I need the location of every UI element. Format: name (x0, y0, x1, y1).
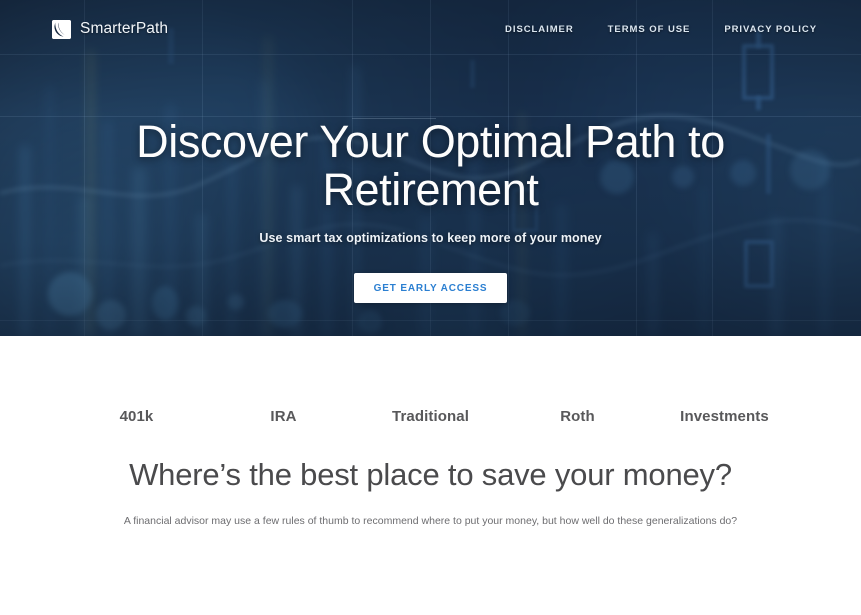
nav-link-privacy-policy[interactable]: PRIVACY POLICY (724, 24, 817, 35)
nav-link-disclaimer[interactable]: DISCLAIMER (505, 24, 574, 35)
brand-logo[interactable]: SmarterPath (52, 20, 168, 39)
top-navigation-bar: SmarterPath DISCLAIMER TERMS OF USE PRIV… (0, 0, 861, 58)
nav-links: DISCLAIMER TERMS OF USE PRIVACY POLICY (505, 24, 817, 35)
category-401k[interactable]: 401k (63, 408, 210, 425)
category-roth[interactable]: Roth (504, 408, 651, 425)
category-traditional[interactable]: Traditional (357, 408, 504, 425)
hero-subheadline: Use smart tax optimizations to keep more… (24, 231, 837, 245)
landing-page: SmarterPath DISCLAIMER TERMS OF USE PRIV… (0, 0, 861, 615)
section-paragraph: A financial advisor may use a few rules … (0, 515, 861, 527)
hero-section: SmarterPath DISCLAIMER TERMS OF USE PRIV… (0, 0, 861, 336)
hero-content: Discover Your Optimal Path to Retirement… (0, 118, 861, 303)
get-early-access-button[interactable]: GET EARLY ACCESS (354, 273, 508, 303)
hero-cta-wrapper: GET EARLY ACCESS (24, 273, 837, 303)
swoosh-logo-icon (52, 20, 71, 39)
value-proposition-section: 401k IRA Traditional Roth Investments Wh… (0, 336, 861, 527)
brand-name: SmarterPath (80, 20, 168, 38)
account-type-list: 401k IRA Traditional Roth Investments (63, 336, 798, 425)
category-ira[interactable]: IRA (210, 408, 357, 425)
section-heading: Where’s the best place to save your mone… (0, 457, 861, 493)
nav-link-terms-of-use[interactable]: TERMS OF USE (608, 24, 691, 35)
hero-headline: Discover Your Optimal Path to Retirement (24, 118, 837, 213)
category-investments[interactable]: Investments (651, 408, 798, 425)
